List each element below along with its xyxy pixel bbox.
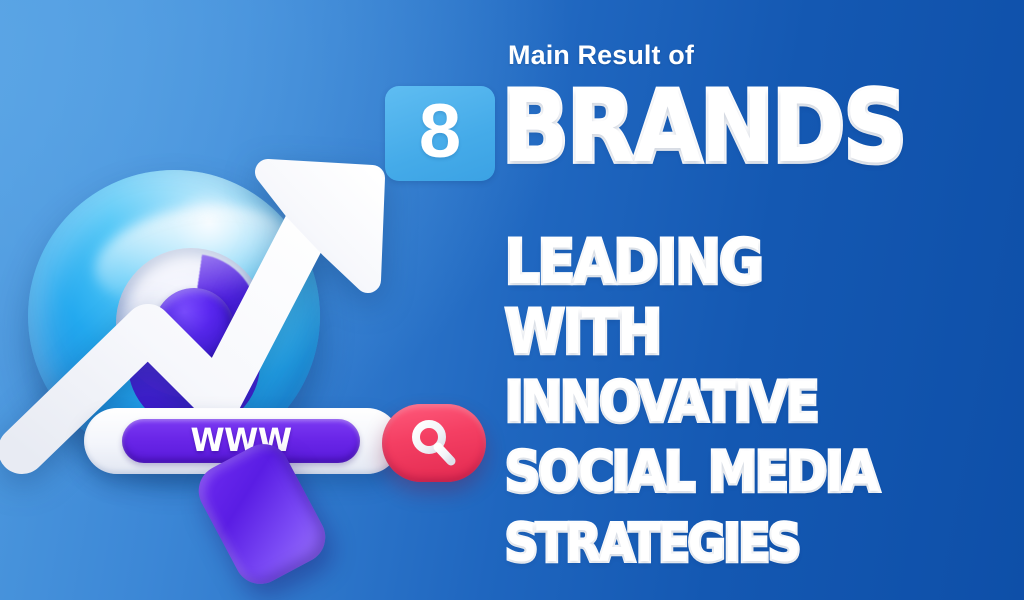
headline-line-2: WITH bbox=[505, 306, 1024, 360]
headline-line-4: SOCIAL MEDIA bbox=[505, 446, 1024, 500]
poster-canvas: WWW Main Result of 8 BR bbox=[0, 0, 1024, 600]
text-column: Main Result of 8 BRANDS LEADING WITH INN… bbox=[0, 0, 1024, 600]
eyebrow-text: Main Result of bbox=[508, 42, 694, 69]
count-badge-value: 8 bbox=[385, 86, 495, 181]
brand-word: BRANDS bbox=[502, 84, 906, 171]
headline-line-1: LEADING bbox=[505, 236, 1024, 290]
headline-block: LEADING WITH INNOVATIVE SOCIAL MEDIA STR… bbox=[505, 236, 1024, 586]
count-badge: 8 bbox=[385, 86, 495, 181]
headline-line-3: INNOVATIVE bbox=[505, 376, 1024, 430]
headline-line-5: STRATEGIES bbox=[505, 516, 1024, 570]
